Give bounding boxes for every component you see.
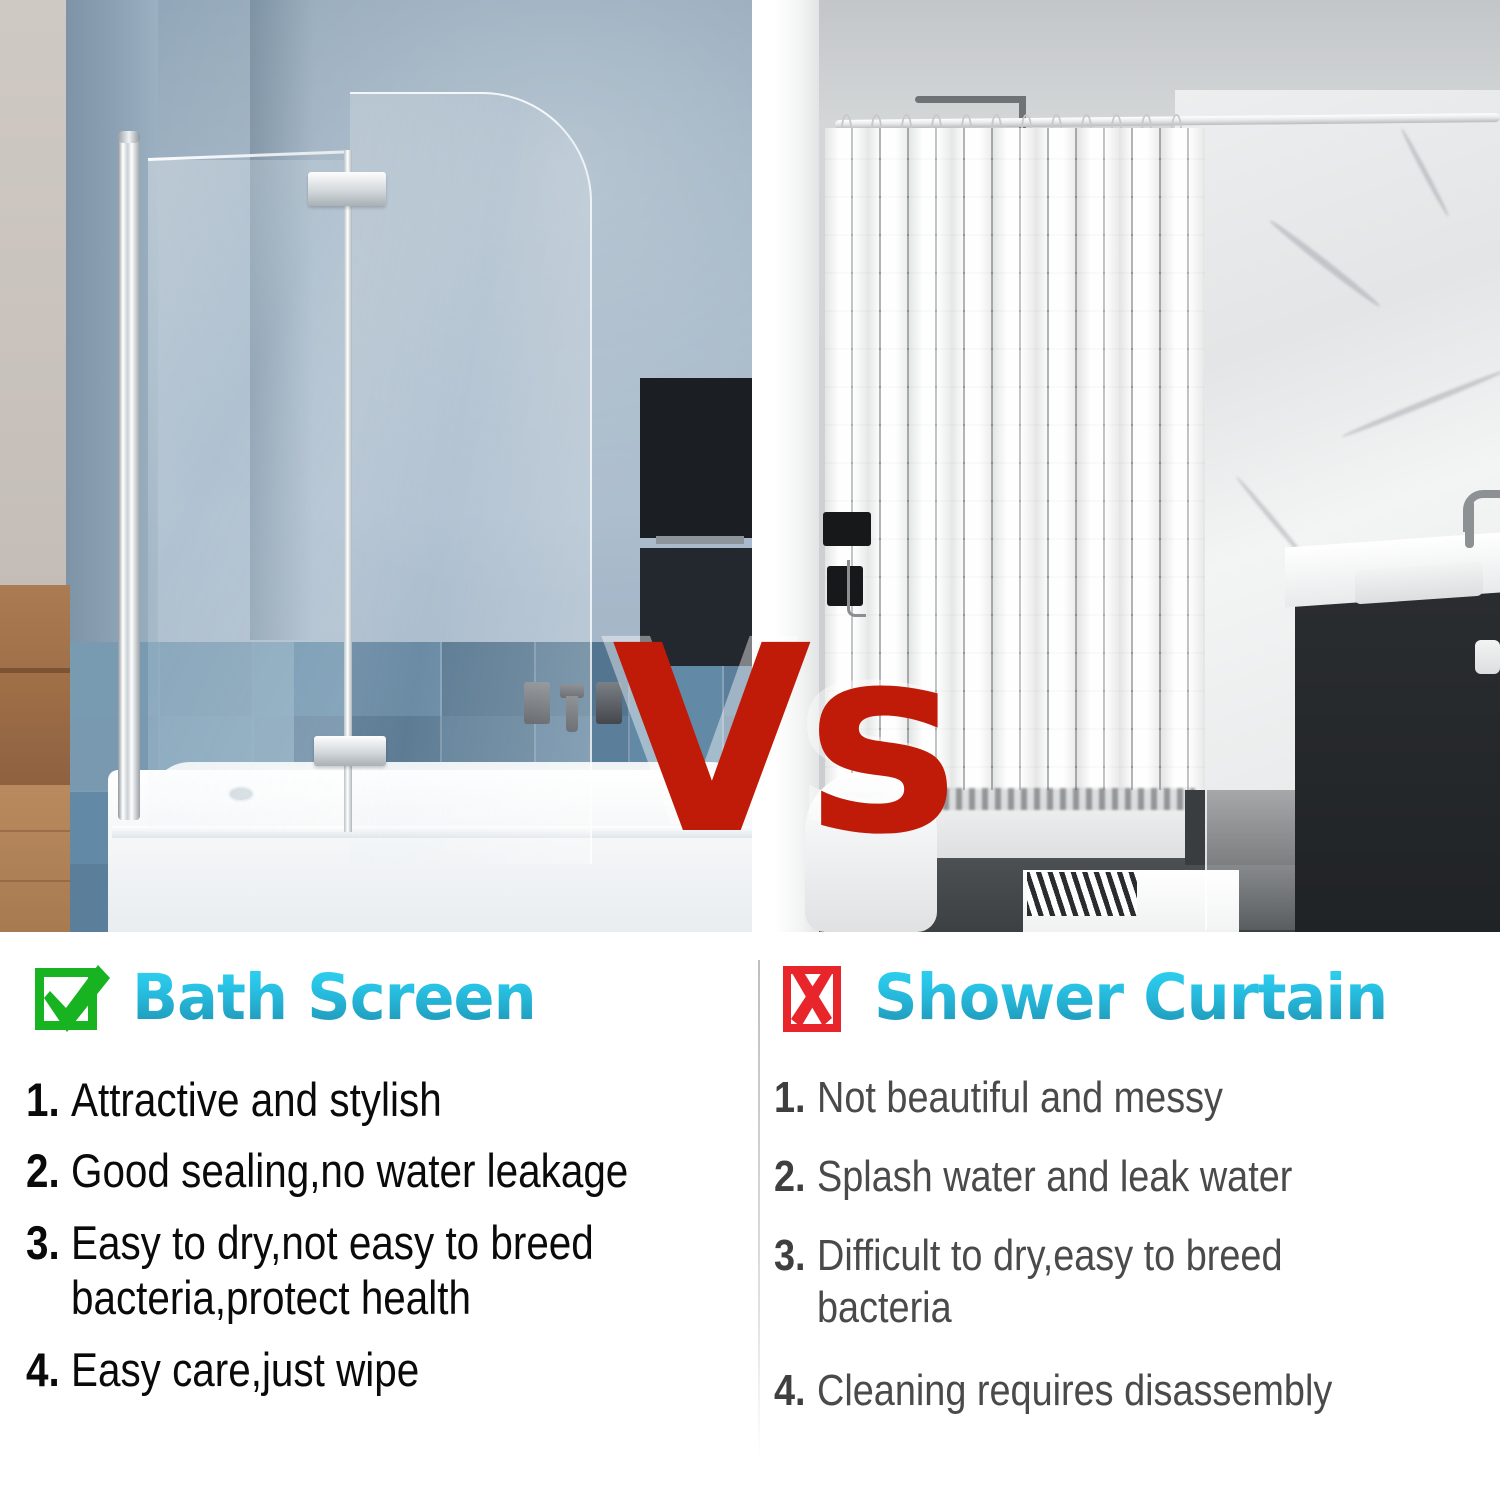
bath-mat-stripes	[1027, 872, 1137, 916]
niche-shelf	[656, 536, 744, 544]
bath-screen-title: Bath Screen	[132, 966, 536, 1029]
list-item-text: Cleaning requires disassembly	[817, 1365, 1332, 1418]
list-item-number: 2.	[774, 1151, 806, 1204]
vanity-cabinet	[1295, 560, 1500, 932]
list-item: 1. Attractive and stylish	[26, 1072, 746, 1127]
shower-curtain-drawbacks-list: 1. Not beautiful and messy 2. Splash wat…	[774, 1072, 1500, 1444]
sink-basin-second	[1475, 640, 1500, 674]
glass-mullion	[344, 150, 352, 832]
list-item-text: Easy to dry,not easy to breed bacteria,p…	[71, 1215, 594, 1326]
photo-row: Vs	[0, 0, 1500, 932]
chrome-post-cap	[118, 131, 140, 143]
wall-niche-upper	[640, 378, 752, 538]
list-item-text: Attractive and stylish	[71, 1072, 442, 1127]
list-item-text: Difficult to dry,easy to breed bacteria	[817, 1230, 1408, 1336]
shower-curtain-title: Shower Curtain	[874, 966, 1387, 1029]
red-x-box-icon	[780, 958, 852, 1036]
list-item-number: 3.	[26, 1215, 60, 1270]
list-item: 2. Good sealing,no water leakage	[26, 1143, 746, 1198]
cabinet-seam	[0, 668, 70, 673]
shower-curtain-column: Shower Curtain 1. Not beautiful and mess…	[760, 932, 1500, 1500]
list-item-text: Easy care,just wipe	[71, 1342, 419, 1397]
wall-hook-upper	[823, 512, 871, 546]
wall-shadow	[66, 0, 158, 660]
list-item: 4. Cleaning requires disassembly	[774, 1365, 1500, 1418]
hinge-lower	[314, 736, 386, 766]
vs-badge: Vs	[612, 612, 953, 870]
list-item-text: Good sealing,no water leakage	[71, 1143, 628, 1198]
bath-screen-column: Bath Screen 1. Attractive and stylish 2.…	[0, 932, 756, 1500]
green-check-box-icon	[32, 958, 110, 1036]
list-item: 4. Easy care,just wipe	[26, 1342, 746, 1397]
list-item-number: 3.	[774, 1230, 806, 1283]
comparison-infographic: Vs Bath Screen 1. Attractive and stylish	[0, 0, 1500, 1500]
list-item-number: 1.	[26, 1072, 60, 1127]
comparison-text-area: Bath Screen 1. Attractive and stylish 2.…	[0, 932, 1500, 1500]
list-item: 1. Not beautiful and messy	[774, 1072, 1500, 1125]
wood-floor	[0, 785, 70, 932]
list-item-number: 4.	[774, 1365, 806, 1418]
list-item: 2. Splash water and leak water	[774, 1151, 1500, 1204]
list-item-text: Not beautiful and messy	[817, 1072, 1223, 1125]
list-item: 3. Difficult to dry,easy to breed bacter…	[774, 1230, 1500, 1336]
glass-partition	[1205, 790, 1307, 930]
chrome-wall-post	[118, 140, 140, 820]
list-item-number: 4.	[26, 1342, 60, 1397]
faucet-stem	[1465, 500, 1474, 548]
glass-panel-fixed	[148, 160, 350, 832]
list-item-number: 2.	[26, 1143, 60, 1198]
hinge-upper	[308, 172, 386, 206]
list-item-number: 1.	[774, 1072, 806, 1125]
bath-screen-header: Bath Screen	[32, 958, 553, 1036]
bath-screen-benefits-list: 1. Attractive and stylish 2. Good sealin…	[26, 1072, 746, 1413]
wood-cabinet	[0, 585, 70, 785]
shower-arm	[915, 96, 1025, 103]
shower-curtain-header: Shower Curtain	[780, 958, 1409, 1036]
glass-panel-folding	[350, 92, 592, 864]
list-item: 3. Easy to dry,not easy to breed bacteri…	[26, 1215, 746, 1326]
list-item-text: Splash water and leak water	[817, 1151, 1292, 1204]
